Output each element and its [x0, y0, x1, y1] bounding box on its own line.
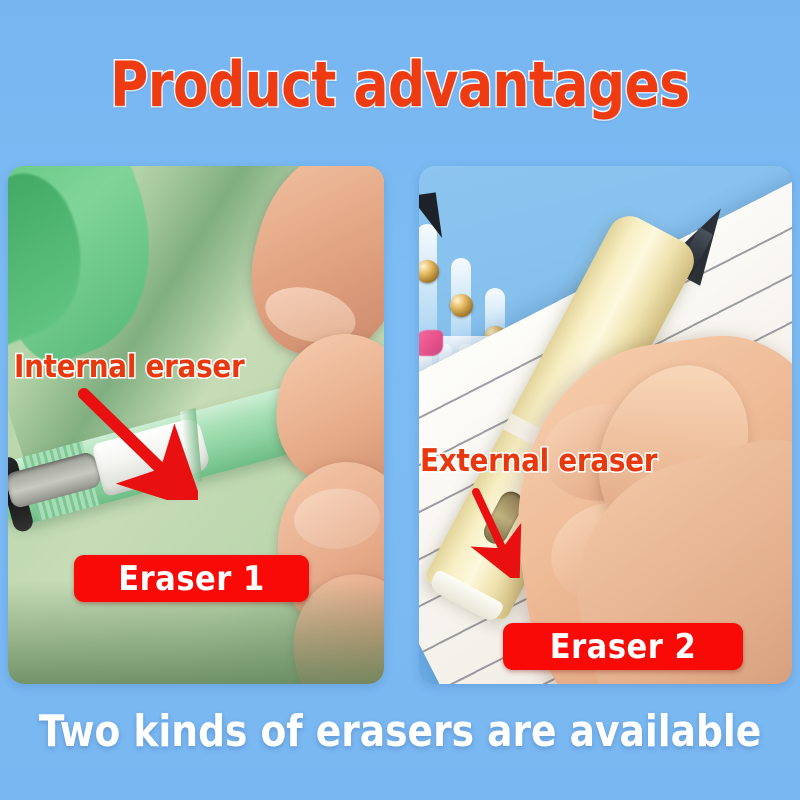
- pink-accent: [419, 330, 443, 356]
- down-arrow-icon: [470, 486, 530, 578]
- bottom-caption: Two kinds of erasers are available: [20, 706, 780, 757]
- crown-bead: [450, 294, 473, 317]
- yellow-pen-photo: 回 学 —: [419, 166, 792, 684]
- panel-eraser-2[interactable]: 回 学 —: [419, 166, 792, 684]
- black-wedge-accent: [419, 192, 442, 241]
- annotation-external-eraser: External eraser: [420, 443, 657, 479]
- annotation-internal-eraser: Internal eraser: [14, 349, 244, 385]
- fingernail: [292, 486, 382, 552]
- badge-eraser-2[interactable]: Eraser 2: [503, 623, 743, 670]
- badge-eraser-1[interactable]: Eraser 1: [74, 555, 309, 602]
- down-right-arrow-icon: [78, 388, 198, 500]
- page-title: Product advantages: [28, 48, 772, 121]
- product-advantages-poster: Product advantages: [0, 0, 800, 800]
